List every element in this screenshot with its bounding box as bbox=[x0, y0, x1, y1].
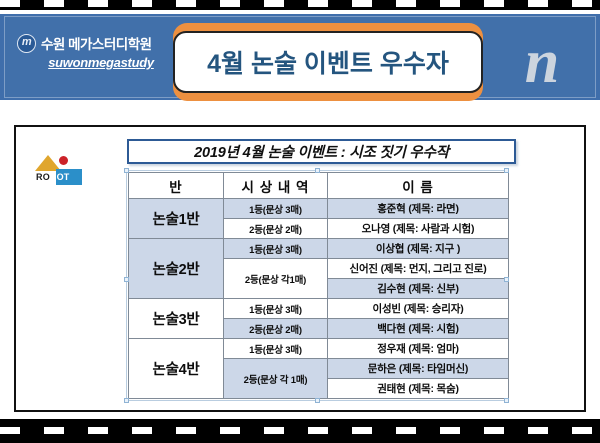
filmstrip-hole bbox=[44, 0, 64, 7]
resize-handle-top-right[interactable] bbox=[504, 168, 509, 173]
brand-name-english: suwonmegastudy bbox=[35, 55, 167, 70]
cell-class-3: 논술3반 bbox=[129, 299, 224, 339]
header-banner-inner: m 수원 메가스터디학원 suwonmegastudy 4월 논술 이벤트 우수… bbox=[4, 16, 596, 98]
awards-table-wrap[interactable]: 반 시 상 내 역 이 름 논술1반1등(문상 3매)홍준혁 (제목: 라면)2… bbox=[126, 170, 508, 401]
resize-handle-middle-left[interactable] bbox=[124, 277, 129, 282]
column-header-class: 반 bbox=[129, 173, 224, 199]
resize-handle-bottom-left[interactable] bbox=[124, 398, 129, 403]
column-header-award: 시 상 내 역 bbox=[224, 173, 328, 199]
filmstrip-bottom bbox=[0, 419, 600, 443]
section-title-box: 2019년 4월 논술 이벤트 : 시조 짓기 우수작 bbox=[127, 139, 516, 164]
filmstrip-hole bbox=[484, 0, 504, 7]
cell-award: 2등(문상 2매) bbox=[224, 219, 328, 239]
cell-name: 이성빈 (제목: 승리자) bbox=[328, 299, 509, 319]
filmstrip-hole bbox=[132, 427, 152, 434]
megastudy-logo-icon: m bbox=[17, 34, 36, 53]
cell-name: 이상협 (제목: 지구 ) bbox=[328, 239, 509, 259]
cell-name: 정우재 (제목: 엄마) bbox=[328, 339, 509, 359]
filmstrip-hole bbox=[264, 0, 284, 7]
brand-block: m 수원 메가스터디학원 suwonmegastudy bbox=[17, 33, 167, 70]
filmstrip-hole bbox=[88, 0, 108, 7]
filmstrip-hole bbox=[0, 427, 20, 434]
filmstrip-hole bbox=[308, 0, 328, 7]
filmstrip-hole bbox=[176, 427, 196, 434]
megastudy-watermark-icon: n bbox=[499, 23, 585, 101]
table-row: 논술3반1등(문상 3매)이성빈 (제목: 승리자) bbox=[129, 299, 509, 319]
filmstrip-hole bbox=[176, 0, 196, 7]
filmstrip-hole bbox=[528, 0, 548, 7]
slide-root: m 수원 메가스터디학원 suwonmegastudy 4월 논술 이벤트 우수… bbox=[0, 0, 600, 443]
robot-head-shape bbox=[59, 156, 68, 165]
banner-title-text: 4월 논술 이벤트 우수자 bbox=[207, 44, 449, 80]
filmstrip-top bbox=[0, 0, 600, 10]
filmstrip-hole bbox=[440, 427, 460, 434]
resize-handle-bottom-right[interactable] bbox=[504, 398, 509, 403]
filmstrip-hole bbox=[440, 0, 460, 7]
awards-table-head: 반 시 상 내 역 이 름 bbox=[129, 173, 509, 199]
resize-handle-top-left[interactable] bbox=[124, 168, 129, 173]
filmstrip-hole bbox=[308, 427, 328, 434]
cell-name: 오나영 (제목: 사람과 시험) bbox=[328, 219, 509, 239]
cell-award: 1등(문상 3매) bbox=[224, 299, 328, 319]
resize-handle-bottom-center[interactable] bbox=[315, 398, 320, 403]
cell-award: 1등(문상 3매) bbox=[224, 199, 328, 219]
column-header-name: 이 름 bbox=[328, 173, 509, 199]
cell-award: 1등(문상 3매) bbox=[224, 339, 328, 359]
filmstrip-hole bbox=[528, 427, 548, 434]
robot-logo-icon: ROBOT bbox=[34, 155, 86, 189]
filmstrip-hole bbox=[264, 427, 284, 434]
robot-text-left: RO bbox=[36, 172, 50, 182]
filmstrip-hole bbox=[572, 0, 592, 7]
cell-award: 2등(문상 각 1매) bbox=[224, 359, 328, 399]
cell-name: 문하은 (제목: 타임머신) bbox=[328, 359, 509, 379]
resize-handle-middle-right[interactable] bbox=[504, 277, 509, 282]
banner-title-plate-wrap: 4월 논술 이벤트 우수자 bbox=[173, 23, 483, 101]
filmstrip-bottom-holes bbox=[0, 427, 600, 434]
banner-title-plate: 4월 논술 이벤트 우수자 bbox=[173, 31, 483, 93]
filmstrip-hole bbox=[220, 0, 240, 7]
awards-table: 반 시 상 내 역 이 름 논술1반1등(문상 3매)홍준혁 (제목: 라면)2… bbox=[128, 172, 509, 399]
cell-award: 1등(문상 3매) bbox=[224, 239, 328, 259]
filmstrip-hole bbox=[352, 0, 372, 7]
filmstrip-hole bbox=[396, 0, 416, 7]
table-row: 논술4반1등(문상 3매)정우재 (제목: 엄마) bbox=[129, 339, 509, 359]
filmstrip-hole bbox=[396, 427, 416, 434]
filmstrip-hole bbox=[88, 427, 108, 434]
cell-name: 권태현 (제목: 목숨) bbox=[328, 379, 509, 399]
cell-name: 홍준혁 (제목: 라면) bbox=[328, 199, 509, 219]
awards-table-body: 논술1반1등(문상 3매)홍준혁 (제목: 라면)2등(문상 2매)오나영 (제… bbox=[129, 199, 509, 399]
cell-award: 2등(문상 각1매) bbox=[224, 259, 328, 299]
cell-class-1: 논술1반 bbox=[129, 199, 224, 239]
cell-name: 백다현 (제목: 시험) bbox=[328, 319, 509, 339]
header-banner: m 수원 메가스터디학원 suwonmegastudy 4월 논술 이벤트 우수… bbox=[0, 12, 600, 102]
cell-award: 2등(문상 2매) bbox=[224, 319, 328, 339]
cell-class-4: 논술4반 bbox=[129, 339, 224, 399]
brand-line-korean: m 수원 메가스터디학원 bbox=[17, 33, 167, 53]
robot-logo-text: ROBOT bbox=[36, 172, 70, 182]
resize-handle-top-center[interactable] bbox=[315, 168, 320, 173]
filmstrip-hole bbox=[132, 0, 152, 7]
filmstrip-hole bbox=[220, 427, 240, 434]
cell-name: 김수현 (제목: 신부) bbox=[328, 279, 509, 299]
filmstrip-hole bbox=[572, 427, 592, 434]
content-card: ROBOT 2019년 4월 논술 이벤트 : 시조 짓기 우수작 반 bbox=[14, 125, 586, 412]
filmstrip-hole bbox=[44, 427, 64, 434]
cell-class-2: 논술2반 bbox=[129, 239, 224, 299]
table-row: 논술2반1등(문상 3매)이상협 (제목: 지구 ) bbox=[129, 239, 509, 259]
table-row: 논술1반1등(문상 3매)홍준혁 (제목: 라면) bbox=[129, 199, 509, 219]
filmstrip-top-holes bbox=[0, 0, 600, 7]
robot-text-right: BOT bbox=[50, 172, 70, 182]
cell-name: 신어진 (제목: 먼지, 그리고 진로) bbox=[328, 259, 509, 279]
filmstrip-hole bbox=[352, 427, 372, 434]
brand-name-korean: 수원 메가스터디학원 bbox=[41, 33, 152, 53]
filmstrip-hole bbox=[484, 427, 504, 434]
section-title-text: 2019년 4월 논술 이벤트 : 시조 짓기 우수작 bbox=[194, 141, 449, 162]
awards-table-header-row: 반 시 상 내 역 이 름 bbox=[129, 173, 509, 199]
filmstrip-hole bbox=[0, 0, 20, 7]
